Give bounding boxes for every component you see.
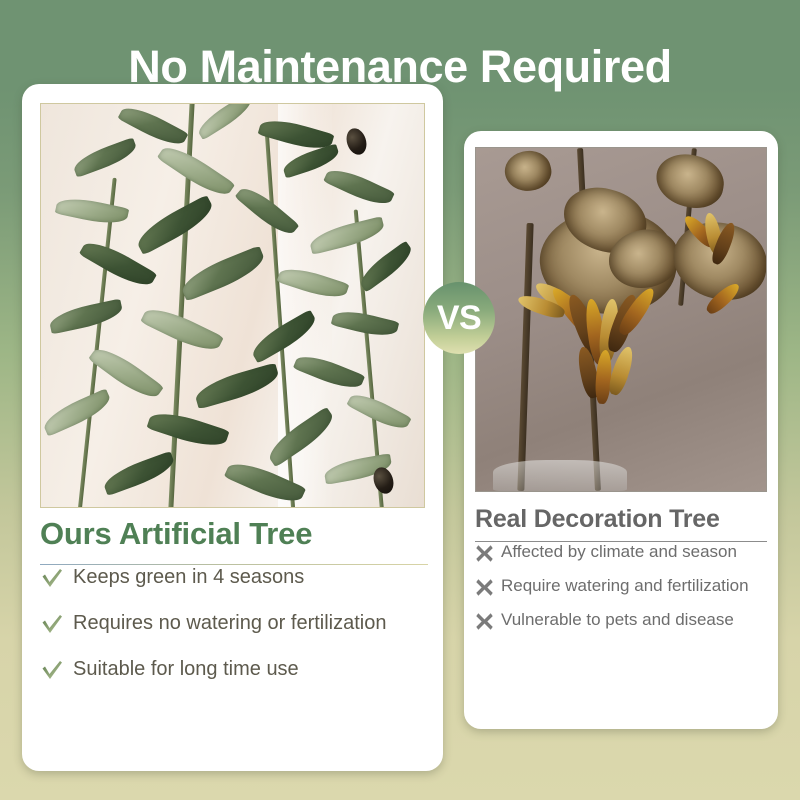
cross-icon [475,544,494,563]
list-item: Suitable for long time use [40,657,428,682]
list-item-label: Keeps green in 4 seasons [73,565,304,589]
real-tree-photo [475,147,767,492]
list-item: Requires no watering or fertilization [40,611,428,636]
list-item: Keeps green in 4 seasons [40,565,428,590]
vs-label: VS [437,301,481,335]
list-item: Require watering and fertilization [475,576,767,597]
cross-icon [475,578,494,597]
check-icon [40,566,64,590]
artificial-tree-feature-list: Keeps green in 4 seasons Requires no wat… [40,565,428,682]
artificial-tree-card: Ours Artificial Tree Keeps green in 4 se… [22,84,443,771]
glass-vase [493,460,626,491]
list-item-label: Vulnerable to pets and disease [501,610,734,629]
real-tree-card: Real Decoration Tree Affected by climate… [464,131,778,729]
check-icon [40,612,64,636]
artificial-tree-heading: Ours Artificial Tree [40,516,428,552]
list-item-label: Requires no watering or fertilization [73,611,387,635]
comparison-infographic: No Maintenance Required [0,0,800,800]
cross-icon [475,612,494,631]
list-item: Vulnerable to pets and disease [475,610,767,631]
real-tree-feature-list: Affected by climate and season Require w… [475,542,767,631]
check-icon [40,658,64,682]
list-item-label: Affected by climate and season [501,542,737,561]
list-item-label: Suitable for long time use [73,657,299,681]
real-tree-text-block: Real Decoration Tree Affected by climate… [475,505,767,644]
list-item: Affected by climate and season [475,542,767,563]
list-item-label: Require watering and fertilization [501,576,749,595]
real-tree-heading: Real Decoration Tree [475,505,767,534]
artificial-tree-text-block: Ours Artificial Tree Keeps green in 4 se… [40,516,428,703]
vs-badge: VS [423,282,495,354]
artificial-tree-photo [40,103,425,508]
